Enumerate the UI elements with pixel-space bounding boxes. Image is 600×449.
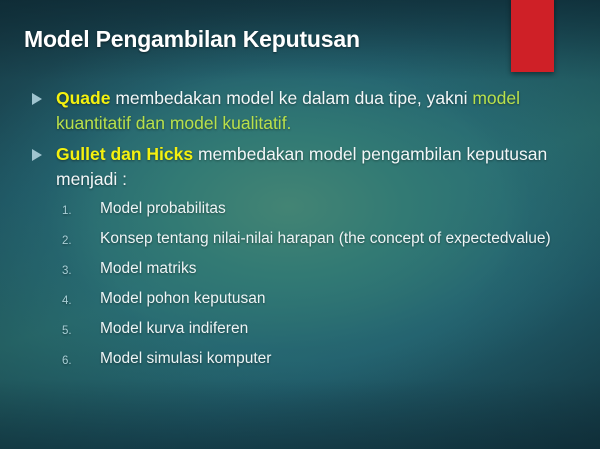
list-item-label: Model pohon keputusan [100,290,265,307]
list-item: 3. Model matriks [26,258,586,279]
list-item: 6. Model simulasi komputer [26,348,586,369]
list-item: 4. Model pohon keputusan [26,288,586,309]
list-item-number: 1. [62,201,84,222]
page-title: Model Pengambilan Keputusan [24,26,494,53]
list-item-number: 2. [62,231,84,252]
slide-body: Quade membedakan model ke dalam dua tipe… [26,86,586,378]
bullet-2-segment-highlight: Gullet dan Hicks [56,144,198,164]
list-item: 1. Model probabilitas [26,198,586,219]
list-item: 5. Model kurva indiferen [26,318,586,339]
bullet-item-1: Quade membedakan model ke dalam dua tipe… [26,86,586,136]
list-item-label: Model matriks [100,260,196,277]
bullet-1-segment-plain: membedakan model ke dalam dua tipe, yakn… [115,88,472,108]
list-item-label: Model simulasi komputer [100,350,271,367]
triangle-right-icon [32,149,42,161]
list-item-number: 4. [62,291,84,312]
numbered-list: 1. Model probabilitas 2. Konsep tentang … [26,198,586,369]
accent-rectangle [511,0,554,72]
list-item-number: 5. [62,321,84,342]
bullet-item-2: Gullet dan Hicks membedakan model pengam… [26,142,586,192]
list-item-label: Model kurva indiferen [100,320,248,337]
bullet-1-segment-highlight: Quade [56,88,115,108]
list-item-label: Konsep tentang nilai-nilai harapan (the … [100,230,551,247]
presentation-slide: Model Pengambilan Keputusan Quade membed… [0,0,600,449]
list-item-number: 3. [62,261,84,282]
list-item: 2. Konsep tentang nilai-nilai harapan (t… [26,228,586,249]
triangle-right-icon [32,93,42,105]
list-item-label: Model probabilitas [100,200,226,217]
list-item-number: 6. [62,351,84,372]
